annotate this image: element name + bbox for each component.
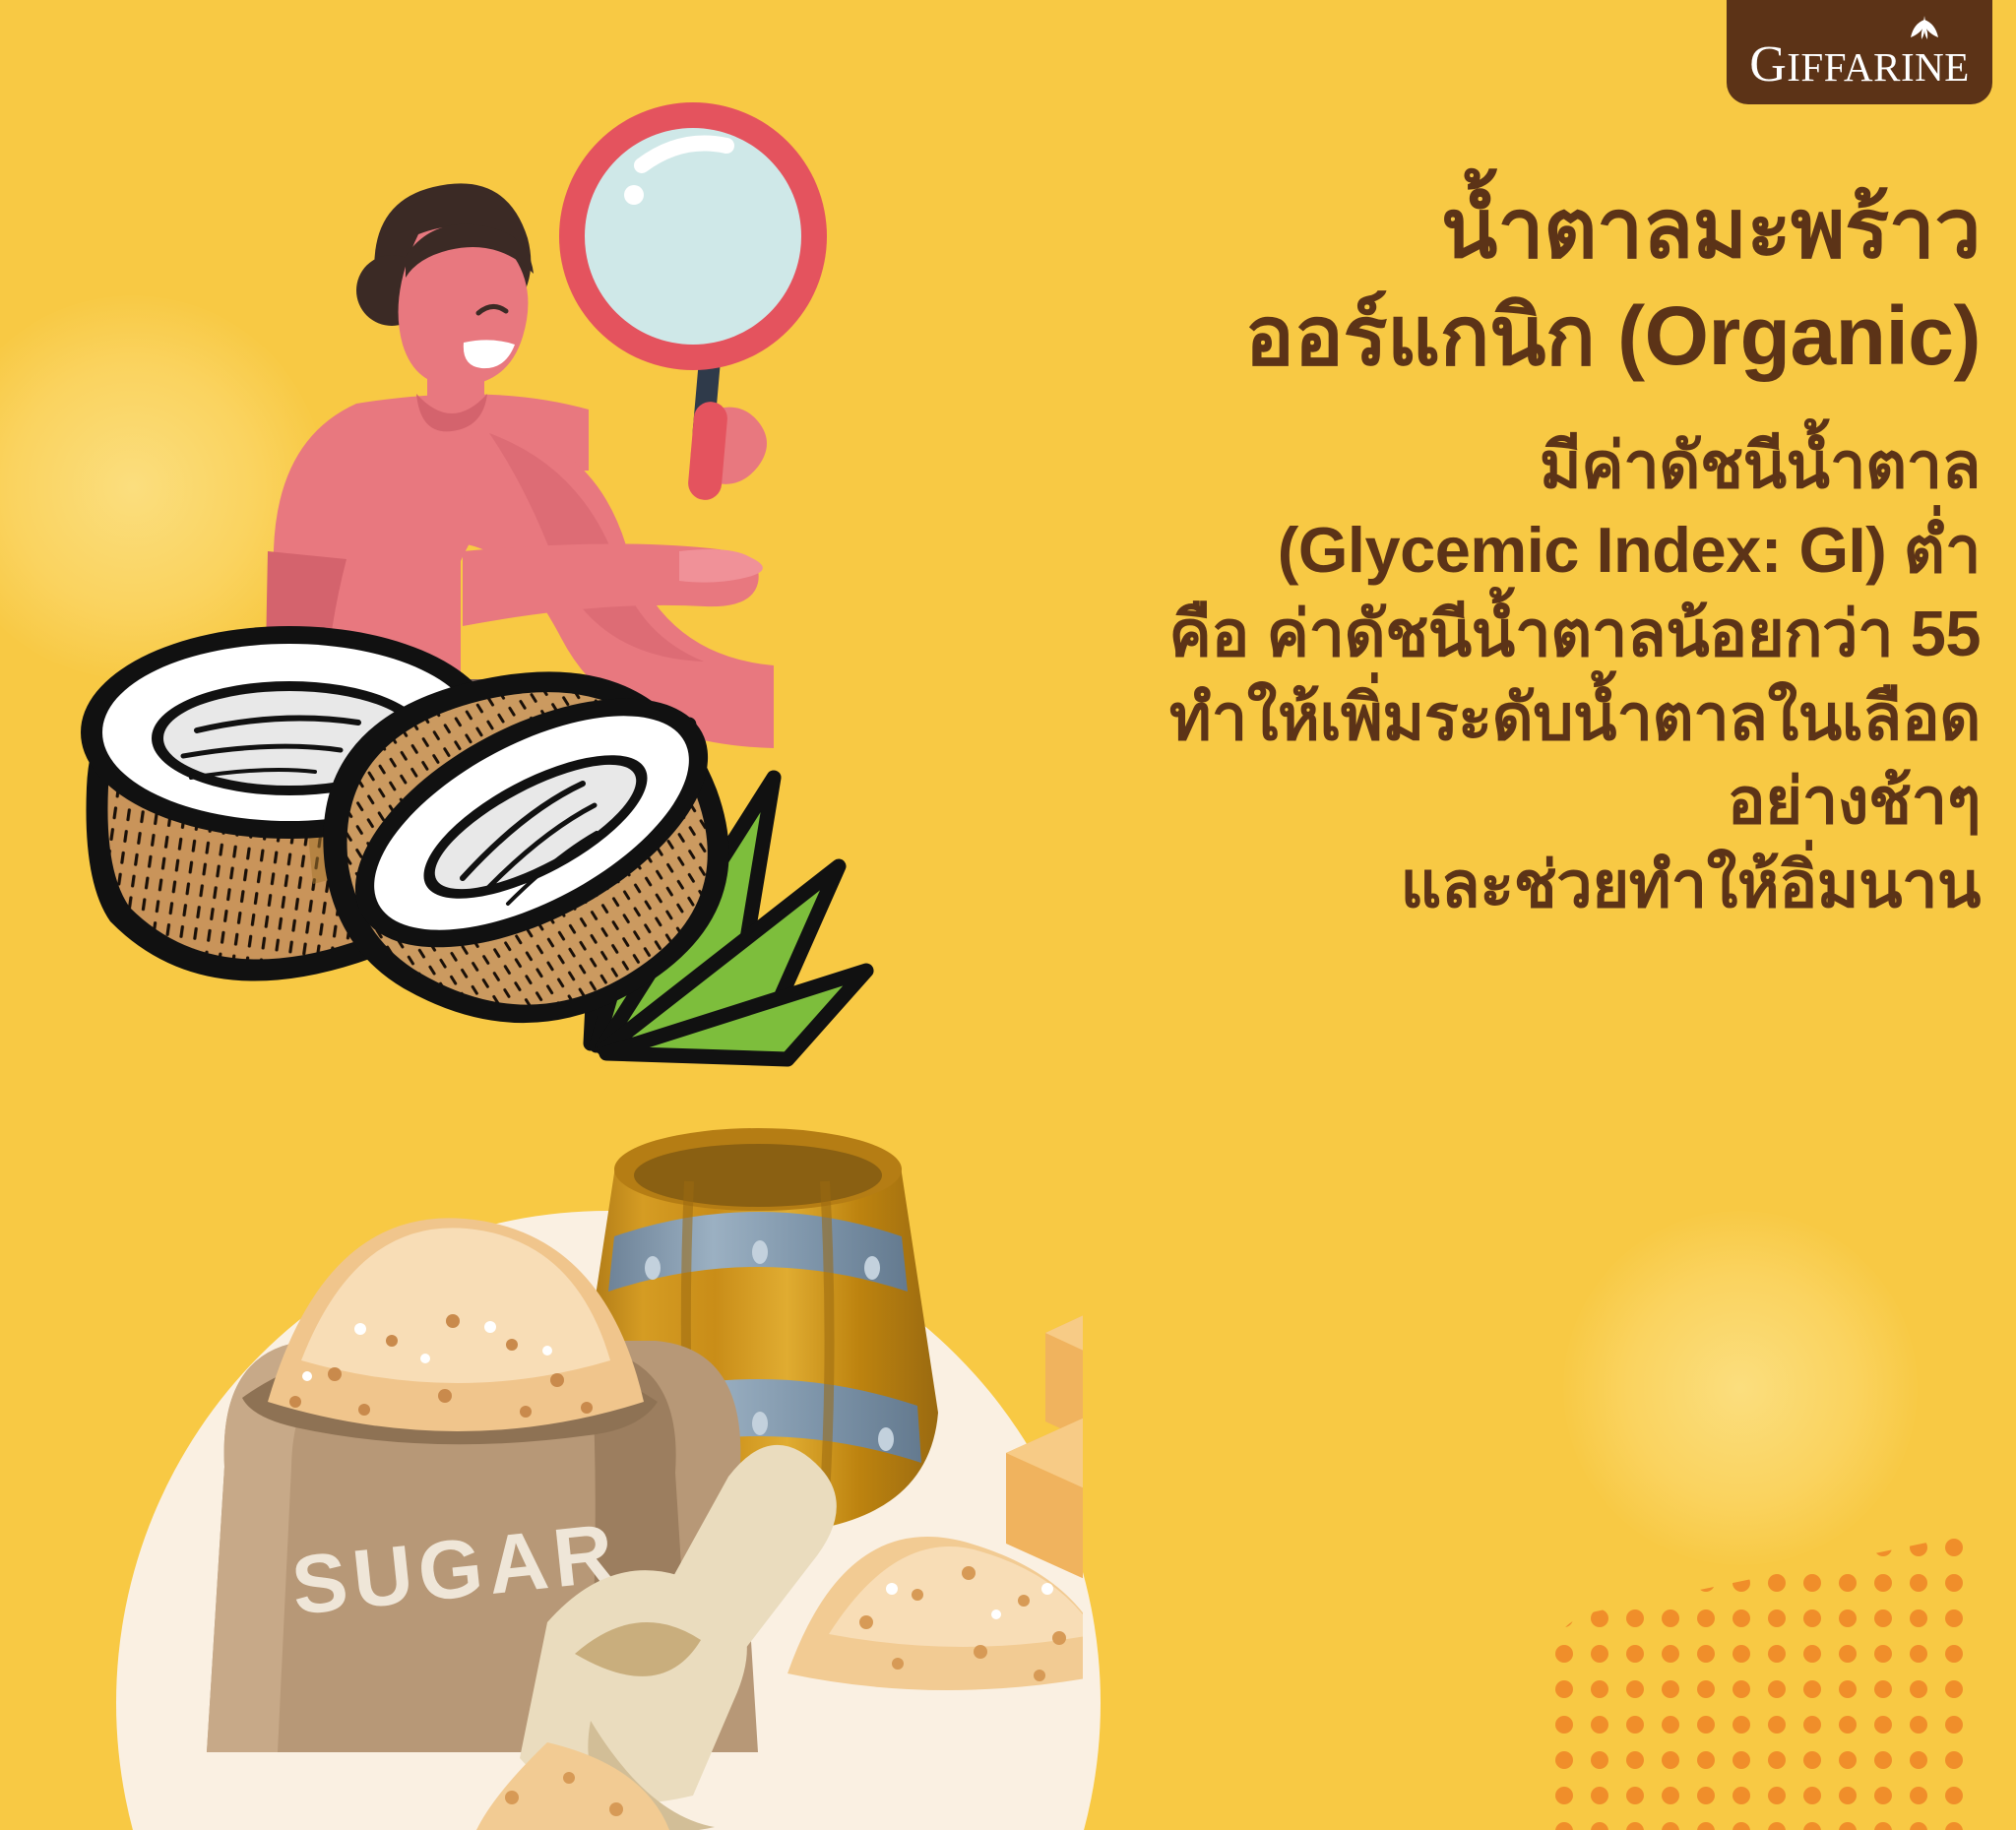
barrel-top-inner — [634, 1144, 882, 1207]
page-title: น้ำตาลมะพร้าว ออร์แกนิก (Organic) — [957, 175, 1981, 390]
body-line-6: และช่วยทำให้อิ่มนาน — [957, 843, 1981, 926]
logo-wrap: GIFFARINE — [1749, 39, 1970, 91]
leaf-ornament-icon — [1910, 16, 1939, 41]
magnifier-highlight-dot — [624, 185, 644, 205]
body-line-1: มีค่าดัชนีน้ำตาล — [957, 423, 1981, 507]
body-line-2: (Glycemic Index: GI) ต่ำ — [957, 508, 1981, 592]
illustration-group: SUGAR — [0, 0, 1083, 1830]
sugar-cubes — [1006, 1295, 1083, 1581]
brand-logo-rest: IFFARINE — [1787, 44, 1969, 90]
brand-logo[interactable]: GIFFARINE — [1727, 0, 1992, 104]
body-line-4: ทำให้เพิ่มระดับน้ำตาลในเลือด — [957, 675, 1981, 759]
poster-canvas: SUGAR — [0, 0, 2016, 1830]
dot-grid-pattern — [1551, 1535, 1965, 1830]
sack-sugar-highlight — [301, 1228, 610, 1383]
magnifier-lens — [585, 128, 801, 345]
background-glow-right — [1563, 1211, 1918, 1565]
headline-line-1: น้ำตาลมะพร้าว — [957, 175, 1981, 283]
body-copy: มีค่าดัชนีน้ำตาล (Glycemic Index: GI) ต่… — [957, 423, 1981, 926]
body-line-3: คือ ค่าดัชนีน้ำตาลน้อยกว่า 55 — [957, 592, 1981, 675]
magnifying-glass — [559, 102, 827, 501]
magnifier-grip — [687, 401, 729, 502]
brand-logo-text: GIFFARINE — [1749, 39, 1970, 91]
sugar-pile — [787, 1537, 1083, 1690]
headline-line-2: ออร์แกนิก (Organic) — [957, 283, 1981, 390]
body-line-5: อย่างช้าๆ — [957, 759, 1981, 843]
brand-logo-initial: G — [1749, 36, 1787, 93]
text-column: น้ำตาลมะพร้าว ออร์แกนิก (Organic) มีค่าด… — [957, 175, 1981, 926]
